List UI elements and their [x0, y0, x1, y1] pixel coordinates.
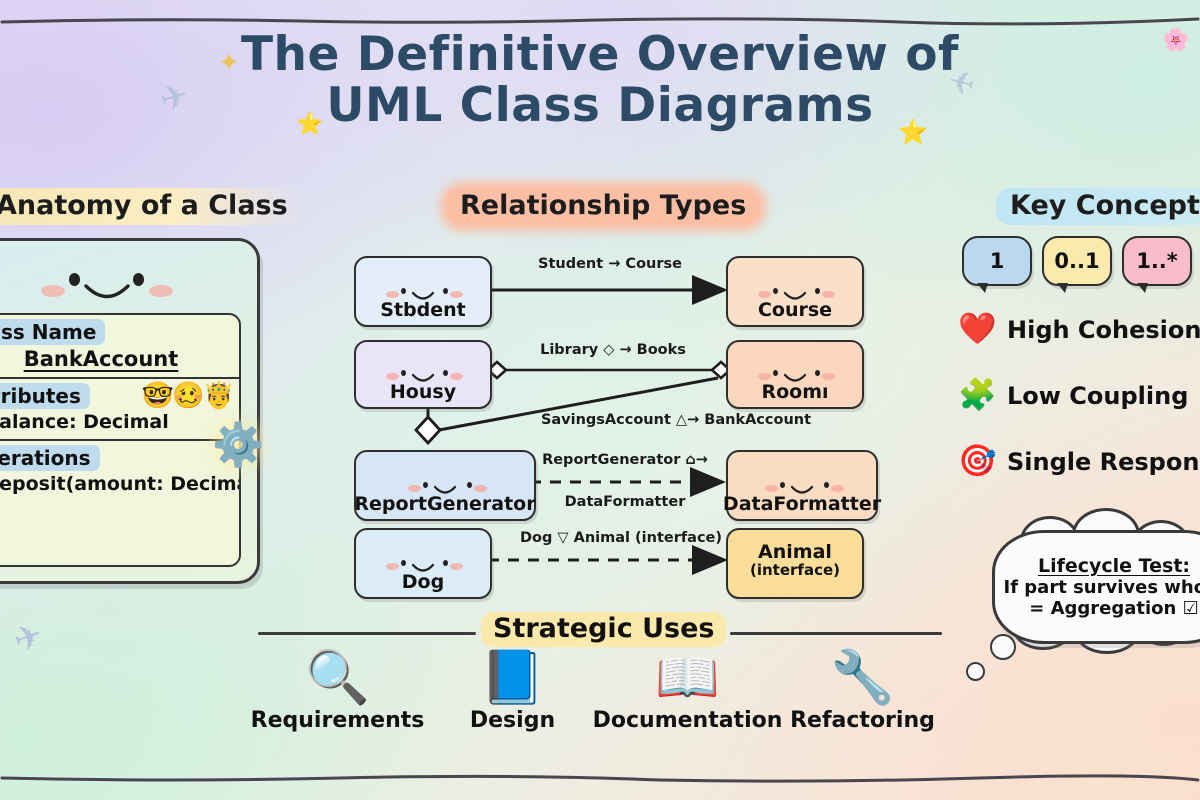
- strategic-use-label: Requirements: [251, 708, 425, 733]
- target-icon: 🎯: [958, 446, 994, 477]
- attributes-chip: Attributes: [0, 383, 90, 409]
- infographic-poster: The Definitive Overview of UML Class Dia…: [0, 0, 1200, 800]
- cloud-line-1: If part survives whole: [1004, 577, 1200, 598]
- class-row-name: Class Name BankAccount: [0, 315, 239, 377]
- class-box: Class Name BankAccount Attributes 🤓🥴🤴 + …: [0, 313, 241, 567]
- relationship-label-dependency-2: DataFormatter: [530, 494, 720, 510]
- multiplicity-badge[interactable]: 1: [962, 236, 1032, 286]
- node-face-icon: [356, 366, 490, 383]
- strategic-use-label: Documentation: [593, 708, 783, 733]
- relationship-node-target[interactable]: DataFormatter: [726, 450, 878, 521]
- key-concept-item: 🎯 Single Responsibility: [958, 446, 1200, 477]
- class-name-value: BankAccount: [0, 345, 239, 373]
- attributes-value: + balance: Decimal: [0, 409, 239, 435]
- class-row-attributes: Attributes 🤓🥴🤴 + balance: Decimal: [0, 377, 239, 439]
- operations-chip: Operations: [0, 445, 100, 471]
- key-concept-item: ❤️ High Cohesion: [958, 314, 1200, 345]
- multiplicity-row: 1 0..1 1..* 0: [962, 236, 1200, 286]
- multiplicity-badge[interactable]: 0..1: [1042, 236, 1112, 286]
- strategic-use-item[interactable]: 🔍 Requirements: [253, 652, 423, 733]
- relationship-node-source[interactable]: ReportGenerator: [354, 450, 536, 521]
- cloud-line-2: = Aggregation ☑: [1029, 598, 1199, 619]
- title-line-2: UML Class Diagrams: [0, 81, 1200, 132]
- bottom-border-line: [0, 772, 1200, 786]
- lifecycle-test-cloud: Lifecycle Test: If part survives whole =…: [992, 530, 1200, 644]
- poster-title: The Definitive Overview of UML Class Dia…: [0, 30, 1200, 132]
- wrench-icon: 🔧: [830, 652, 895, 704]
- multiplicity-badge[interactable]: 1..*: [1122, 236, 1192, 286]
- node-face-icon: [356, 556, 490, 573]
- cloud-tail-dot: [990, 634, 1016, 660]
- strategic-use-label: Refactoring: [790, 708, 935, 733]
- gear-icon: ⚙️: [212, 420, 264, 470]
- strategic-use-item[interactable]: 🔧 Refactoring: [778, 652, 948, 733]
- attribute-emoji-cluster: 🤓🥴🤴: [142, 381, 233, 411]
- relationship-label-dependency: ReportGenerator ⌂→: [530, 452, 720, 468]
- section-header-strategic-uses: Strategic Uses: [481, 612, 726, 647]
- strategic-use-item[interactable]: 📘 Design: [428, 652, 598, 733]
- node-face-icon: [728, 284, 862, 301]
- node-stereotype: (interface): [750, 563, 840, 579]
- node-label: Animal: [758, 543, 832, 562]
- relationship-label-composition: SavingsAccount △→ BankAccount: [526, 412, 826, 428]
- key-concept-label: Single Responsibility: [1007, 448, 1200, 476]
- card-face-icon: [0, 255, 257, 307]
- section-header-relationships: Relationship Types: [446, 188, 760, 225]
- relationship-label-realization: Dog ▽ Animal (interface): [506, 530, 736, 546]
- relationship-node-target-interface[interactable]: Animal (interface): [726, 528, 864, 599]
- class-name-chip: Class Name: [0, 319, 105, 345]
- relationship-node-target[interactable]: Roomı: [726, 340, 864, 409]
- relationship-label-association: Student → Course: [530, 256, 690, 272]
- strategic-use-label: Design: [470, 708, 555, 733]
- relationship-node-source[interactable]: Dog: [354, 528, 492, 599]
- section-header-anatomy: Anatomy of a Class: [0, 188, 302, 225]
- key-concept-label: Low Coupling: [1007, 382, 1188, 410]
- class-row-operations: Operations + deposit(amount: Decimal): [0, 439, 239, 501]
- class-anatomy-card: Class Name BankAccount Attributes 🤓🥴🤴 + …: [0, 238, 260, 584]
- relationship-node-target[interactable]: Course: [726, 256, 864, 327]
- key-concepts-panel: 1 0..1 1..* 0 ❤️ High Cohesion 🧩 Low Cou…: [952, 236, 1200, 536]
- key-concept-label: High Cohesion: [1007, 316, 1200, 344]
- cloud-title: Lifecycle Test:: [1038, 555, 1190, 577]
- section-header-key-concepts: Key Concepts: [996, 188, 1200, 225]
- divider-left: [258, 632, 476, 635]
- blueprint-icon: 📘: [480, 652, 545, 704]
- strategic-use-item[interactable]: 📖 Documentation: [603, 652, 773, 733]
- cloud-tail-dot: [966, 662, 985, 681]
- key-concept-item: 🧩 Low Coupling: [958, 380, 1188, 411]
- open-book-icon: 📖: [655, 652, 720, 704]
- heart-icon: ❤️: [958, 314, 994, 345]
- puzzle-piece-icon: 🧩: [958, 380, 994, 411]
- node-face-icon: [356, 284, 490, 301]
- magnifier-icon: 🔍: [305, 652, 370, 704]
- top-border-line: [0, 14, 1200, 28]
- title-line-1: The Definitive Overview of: [0, 30, 1200, 81]
- strategic-uses-row: 🔍 Requirements 📘 Design 📖 Documentation …: [250, 652, 950, 733]
- divider-right: [730, 632, 942, 635]
- relationship-node-source[interactable]: Housy: [354, 340, 492, 409]
- relationship-types-diagram: Stbdent Course Student → Course Housy: [340, 232, 880, 602]
- node-face-icon: [728, 366, 862, 383]
- node-face-icon: [356, 478, 534, 495]
- relationship-label-aggregation: Library ◇ → Books: [526, 342, 700, 358]
- operations-value: + deposit(amount: Decimal): [0, 471, 239, 497]
- node-face-icon: [728, 478, 876, 495]
- relationship-node-source[interactable]: Stbdent: [354, 256, 492, 327]
- paper-plane-icon: ✈: [8, 614, 48, 661]
